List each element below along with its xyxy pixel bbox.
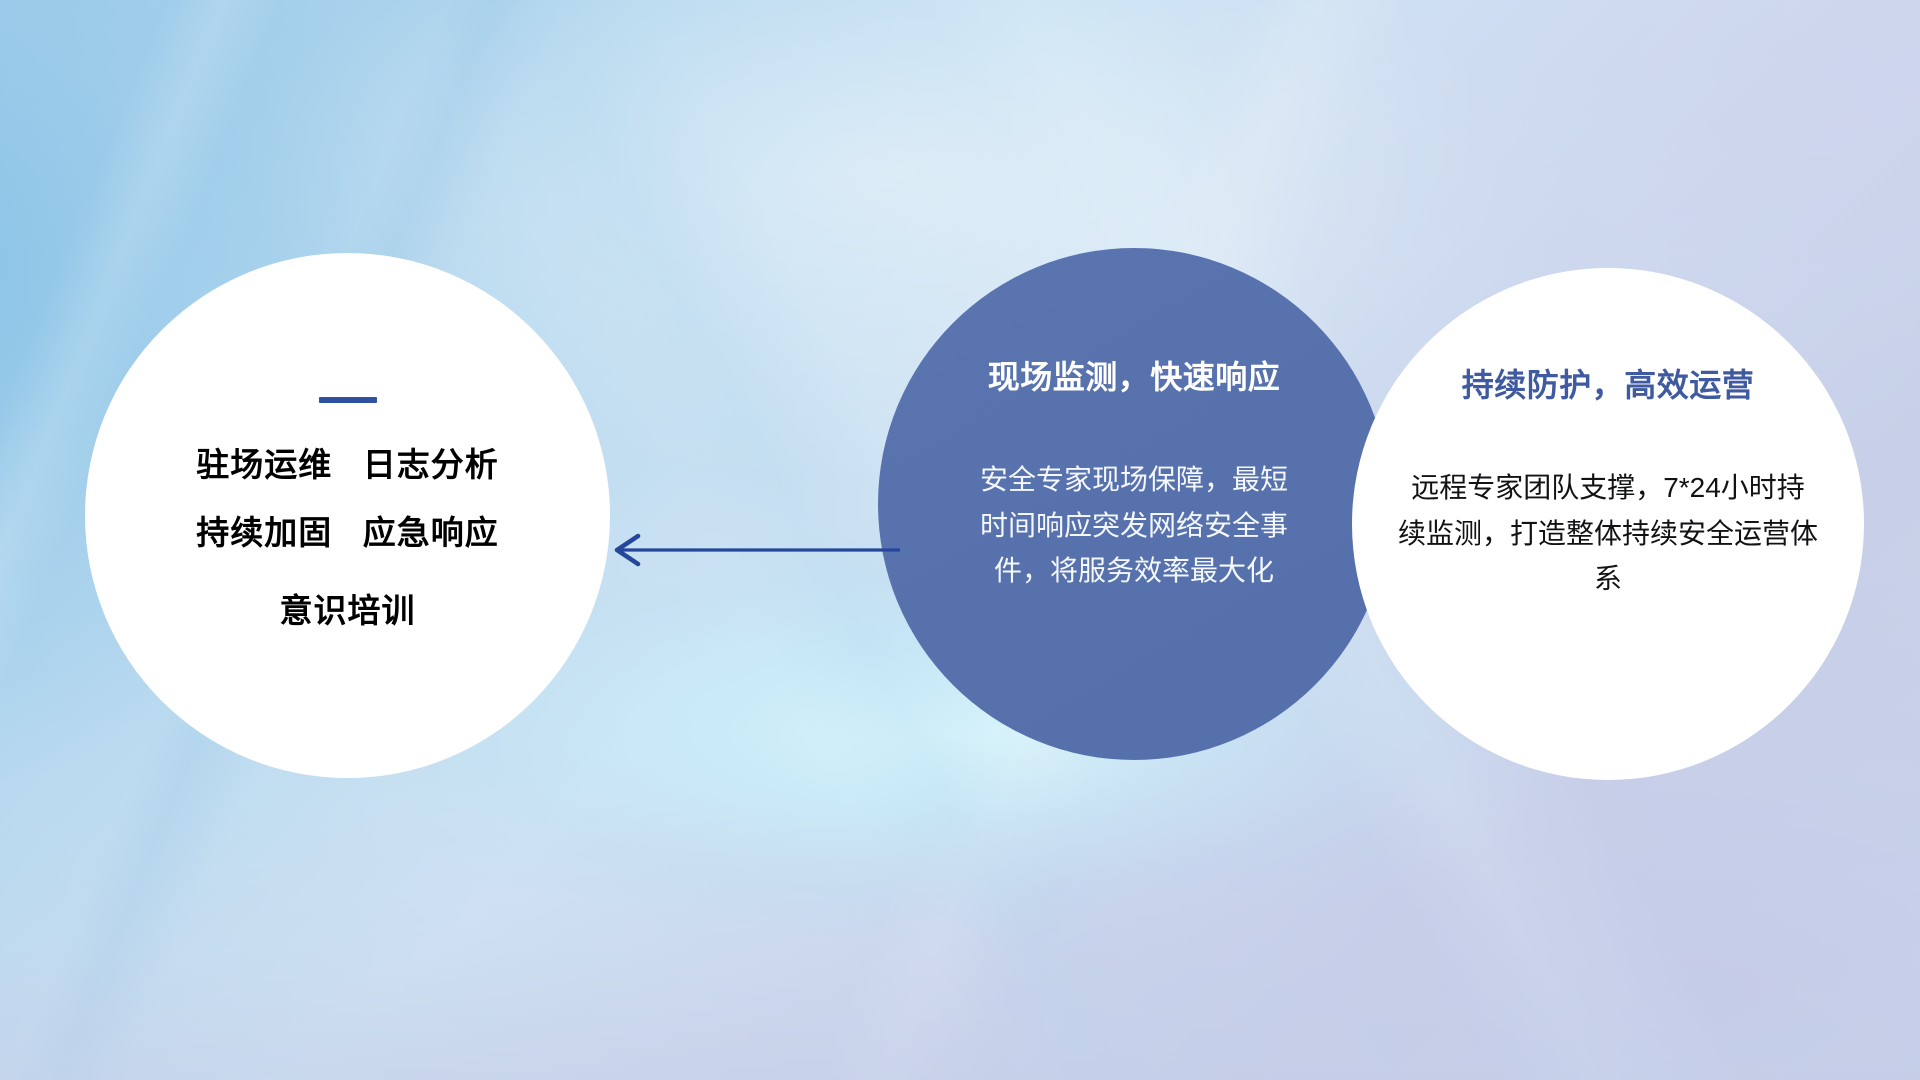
capabilities-line-1: 驻场运维 日志分析	[196, 448, 499, 481]
capabilities-content: 驻场运维 日志分析 持续加固 应急响应 意识培训	[85, 253, 610, 778]
onsite-monitoring-content: 现场监测，快速响应 安全专家现场保障，最短时间响应突发网络安全事件，将服务效率最…	[878, 248, 1390, 760]
onsite-monitoring-body: 安全专家现场保障，最短时间响应突发网络安全事件，将服务效率最大化	[969, 457, 1299, 593]
onsite-monitoring-heading: 现场监测，快速响应	[988, 360, 1281, 395]
continuous-protection-heading: 持续防护，高效运营	[1462, 368, 1755, 403]
arrow-left-icon	[604, 528, 904, 572]
capabilities-circle[interactable]: 驻场运维 日志分析 持续加固 应急响应 意识培训	[85, 253, 610, 778]
connector-arrow	[604, 528, 904, 572]
onsite-monitoring-circle[interactable]: 现场监测，快速响应 安全专家现场保障，最短时间响应突发网络安全事件，将服务效率最…	[878, 248, 1390, 760]
continuous-protection-circle[interactable]: 持续防护，高效运营 远程专家团队支撑，7*24小时持续监测，打造整体持续安全运营…	[1352, 268, 1864, 780]
slide-canvas: 驻场运维 日志分析 持续加固 应急响应 意识培训 现场监测，快速响应 安全专家现…	[0, 0, 1920, 1080]
capabilities-line-2: 持续加固 应急响应	[196, 516, 499, 549]
divider-dash-icon	[319, 397, 377, 403]
continuous-protection-content: 持续防护，高效运营 远程专家团队支撑，7*24小时持续监测，打造整体持续安全运营…	[1352, 268, 1864, 780]
capabilities-line-3: 意识培训	[279, 594, 415, 627]
capabilities-list: 驻场运维 日志分析 持续加固 应急响应 意识培训	[196, 448, 499, 627]
continuous-protection-body: 远程专家团队支撑，7*24小时持续监测，打造整体持续安全运营体系	[1398, 465, 1818, 601]
